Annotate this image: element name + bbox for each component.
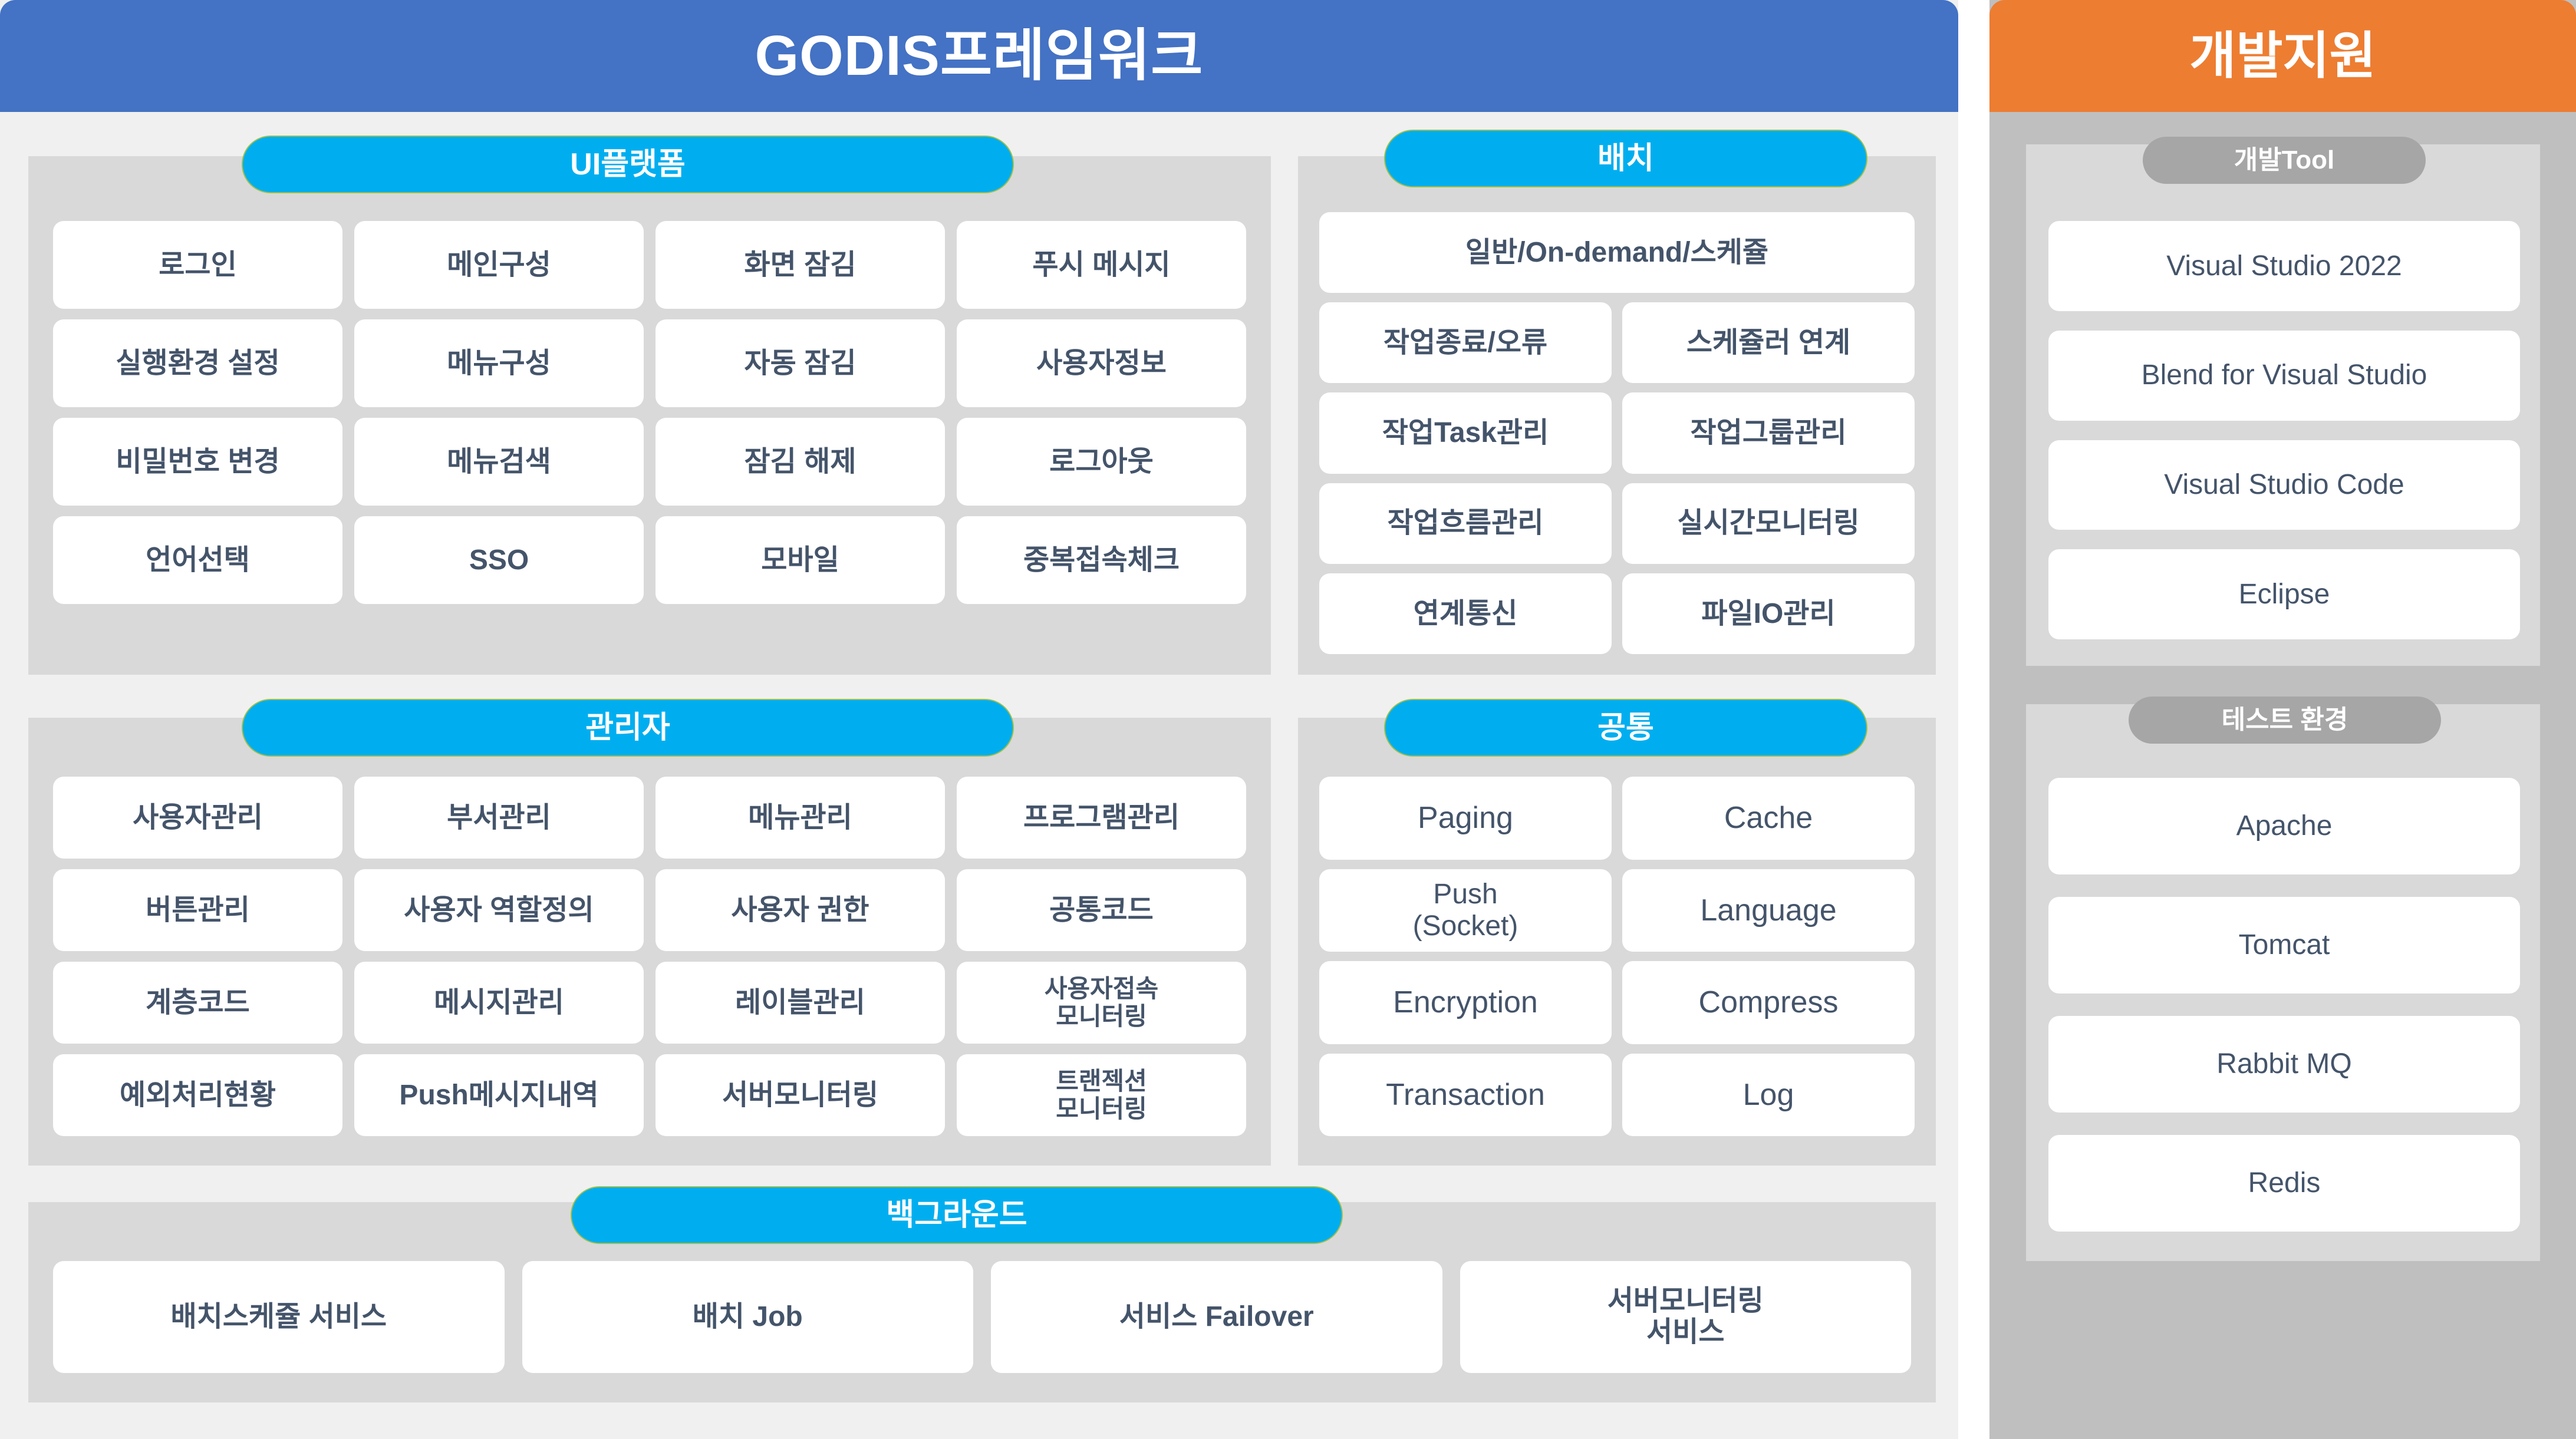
cell-batch-link-comm[interactable]: 연계통신 — [1319, 573, 1612, 654]
cell-bg-batch-job[interactable]: 배치 Job — [522, 1261, 974, 1373]
dev-support-column: 개발지원 개발Tool Visual Studio 2022 Blend for… — [1989, 0, 2576, 1439]
cell-common-paging[interactable]: Paging — [1319, 777, 1612, 860]
cell-admin-menu-manage[interactable]: 메뉴관리 — [655, 777, 945, 859]
section-label-dev-tool: 개발Tool — [2143, 137, 2426, 184]
cell-ui-user-info[interactable]: 사용자정보 — [957, 319, 1246, 407]
cell-common-language[interactable]: Language — [1622, 869, 1915, 952]
cell-batch-file-io[interactable]: 파일IO관리 — [1622, 573, 1915, 654]
cell-admin-exception-status[interactable]: 예외처리현황 — [53, 1054, 342, 1136]
cell-test-env-apache[interactable]: Apache — [2048, 778, 2520, 874]
grid-dev-tool: Visual Studio 2022 Blend for Visual Stud… — [2048, 221, 2520, 639]
dev-support-header: 개발지원 — [1989, 0, 2576, 112]
cell-admin-role-define[interactable]: 사용자 역할정의 — [354, 869, 644, 951]
cell-dev-tool-blend-visual-studio[interactable]: Blend for Visual Studio — [2048, 331, 2520, 421]
cell-bg-service-failover[interactable]: 서비스 Failover — [991, 1261, 1442, 1373]
cell-ui-mobile[interactable]: 모바일 — [655, 516, 945, 604]
cell-bg-batch-schedule-service[interactable]: 배치스케쥴 서비스 — [53, 1261, 505, 1373]
cell-admin-user-permission[interactable]: 사용자 권한 — [655, 869, 945, 951]
cell-ui-menu-config[interactable]: 메뉴구성 — [354, 319, 644, 407]
cell-ui-auto-lock[interactable]: 자동 잠김 — [655, 319, 945, 407]
section-label-text: 백그라운드 — [886, 1200, 1027, 1230]
cell-common-log[interactable]: Log — [1622, 1054, 1915, 1137]
cell-test-env-tomcat[interactable]: Tomcat — [2048, 897, 2520, 994]
cell-admin-program-manage[interactable]: 프로그램관리 — [957, 777, 1246, 859]
cell-ui-login[interactable]: 로그인 — [53, 221, 342, 309]
cell-ui-main-config[interactable]: 메인구성 — [354, 221, 644, 309]
cell-batch-task-manage[interactable]: 작업Task관리 — [1319, 392, 1612, 473]
section-label-text: 공통 — [1597, 712, 1654, 743]
section-label-text: 테스트 환경 — [2222, 707, 2348, 733]
cell-batch-realtime-monitor[interactable]: 실시간모니터링 — [1622, 483, 1915, 564]
section-label-background: 백그라운드 — [571, 1186, 1343, 1244]
cell-ui-push-message[interactable]: 푸시 메시지 — [957, 221, 1246, 309]
cell-dev-tool-visual-studio-code[interactable]: Visual Studio Code — [2048, 440, 2520, 530]
cell-ui-sso[interactable]: SSO — [354, 516, 644, 604]
cell-admin-user-access-monitor[interactable]: 사용자접속 모니터링 — [957, 962, 1246, 1044]
cell-common-encryption[interactable]: Encryption — [1319, 961, 1612, 1044]
cell-admin-push-history[interactable]: Push메시지내역 — [354, 1054, 644, 1136]
cell-ui-screen-lock[interactable]: 화면 잠김 — [655, 221, 945, 309]
grid-admin: 사용자관리 부서관리 메뉴관리 프로그램관리 버튼관리 사용자 역할정의 사용자… — [53, 777, 1246, 1136]
cell-common-transaction[interactable]: Transaction — [1319, 1054, 1612, 1137]
section-label-common: 공통 — [1384, 699, 1867, 757]
section-label-text: 관리자 — [585, 712, 670, 743]
cell-ui-duplicate-login[interactable]: 중복접속체크 — [957, 516, 1246, 604]
section-label-text: UI플랫폼 — [570, 149, 686, 180]
cell-common-compress[interactable]: Compress — [1622, 961, 1915, 1044]
cell-dev-tool-eclipse[interactable]: Eclipse — [2048, 549, 2520, 639]
cell-admin-button-manage[interactable]: 버튼관리 — [53, 869, 342, 951]
cell-ui-unlock[interactable]: 잠김 해제 — [655, 418, 945, 506]
cell-admin-common-code[interactable]: 공통코드 — [957, 869, 1246, 951]
cell-ui-menu-search[interactable]: 메뉴검색 — [354, 418, 644, 506]
grid-common: Paging Cache Push (Socket) Language Encr… — [1319, 777, 1915, 1136]
cell-admin-message-manage[interactable]: 메시지관리 — [354, 962, 644, 1044]
cell-batch-type[interactable]: 일반/On-demand/스케쥴 — [1319, 212, 1915, 293]
cell-test-env-redis[interactable]: Redis — [2048, 1135, 2520, 1232]
grid-ui-platform: 로그인 메인구성 화면 잠김 푸시 메시지 실행환경 설정 메뉴구성 자동 잠김… — [53, 221, 1246, 604]
cell-admin-dept-manage[interactable]: 부서관리 — [354, 777, 644, 859]
section-label-test-env: 테스트 환경 — [2129, 697, 2441, 744]
cell-admin-hierarchy-code[interactable]: 계층코드 — [53, 962, 342, 1044]
grid-batch: 일반/On-demand/스케쥴 작업종료/오류 스케쥴러 연계 작업Task관… — [1319, 212, 1915, 654]
cell-common-push-socket[interactable]: Push (Socket) — [1319, 869, 1612, 952]
cell-admin-transaction-monitor[interactable]: 트랜젝션 모니터링 — [957, 1054, 1246, 1136]
cell-bg-server-monitor-service[interactable]: 서버모니터링 서비스 — [1460, 1261, 1912, 1373]
diagram-root: GODIS프레임워크 UI플랫폼 로그인 메인구성 화면 잠김 푸시 메시지 실… — [0, 0, 2576, 1439]
framework-header: GODIS프레임워크 — [0, 0, 1958, 112]
cell-common-cache[interactable]: Cache — [1622, 777, 1915, 860]
cell-test-env-rabbit-mq[interactable]: Rabbit MQ — [2048, 1016, 2520, 1113]
framework-title: GODIS프레임워크 — [755, 28, 1204, 84]
framework-column: GODIS프레임워크 UI플랫폼 로그인 메인구성 화면 잠김 푸시 메시지 실… — [0, 0, 1958, 1439]
section-label-batch: 배치 — [1384, 130, 1867, 187]
cell-admin-user-manage[interactable]: 사용자관리 — [53, 777, 342, 859]
grid-test-env: Apache Tomcat Rabbit MQ Redis — [2048, 778, 2520, 1232]
cell-ui-language-select[interactable]: 언어선택 — [53, 516, 342, 604]
cell-ui-runtime-config[interactable]: 실행환경 설정 — [53, 319, 342, 407]
section-label-admin: 관리자 — [242, 699, 1014, 757]
cell-batch-flow-manage[interactable]: 작업흐름관리 — [1319, 483, 1612, 564]
cell-ui-change-password[interactable]: 비밀번호 변경 — [53, 418, 342, 506]
section-label-text: 배치 — [1597, 143, 1654, 174]
cell-admin-label-manage[interactable]: 레이블관리 — [655, 962, 945, 1044]
section-label-text: 개발Tool — [2234, 147, 2335, 173]
cell-dev-tool-visual-studio-2022[interactable]: Visual Studio 2022 — [2048, 221, 2520, 311]
grid-background: 배치스케쥴 서비스 배치 Job 서비스 Failover 서버모니터링 서비스 — [53, 1261, 1911, 1373]
cell-batch-end-error[interactable]: 작업종료/오류 — [1319, 302, 1612, 383]
cell-batch-group-manage[interactable]: 작업그룹관리 — [1622, 392, 1915, 473]
dev-support-title: 개발지원 — [2189, 31, 2376, 81]
cell-admin-server-monitor[interactable]: 서버모니터링 — [655, 1054, 945, 1136]
cell-batch-scheduler-link[interactable]: 스케쥴러 연계 — [1622, 302, 1915, 383]
cell-ui-logout[interactable]: 로그아웃 — [957, 418, 1246, 506]
section-label-ui-platform: UI플랫폼 — [242, 136, 1014, 193]
